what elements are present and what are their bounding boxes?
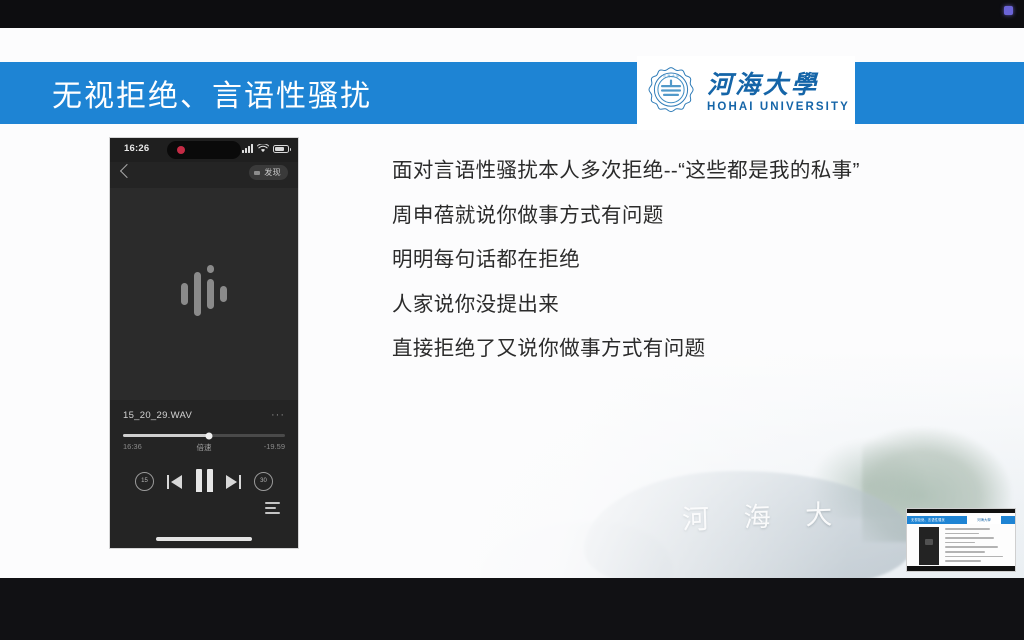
presentation-screen: 河 海 大 无视拒绝、言语性骚扰: [0, 0, 1024, 640]
stone-engraved-text: 河 海 大: [681, 492, 845, 537]
status-bar-time: 16:26: [124, 143, 149, 154]
phone-footer: [110, 492, 298, 548]
progress-fill: [123, 434, 209, 437]
elapsed-time: 16:36: [123, 442, 142, 451]
progress-knob[interactable]: [205, 432, 212, 439]
dynamic-island: [167, 141, 241, 159]
rewind-15-button[interactable]: 15: [135, 472, 154, 491]
thumbnail-text-lines: [945, 528, 1011, 565]
recording-dot-icon: [177, 146, 185, 154]
playback-speed-label[interactable]: 倍速: [197, 442, 212, 453]
body-line: 人家说你没提出来: [392, 295, 992, 316]
body-line: 周申蓓就说你做事方式有问题: [392, 206, 992, 227]
playlist-icon[interactable]: [265, 502, 280, 517]
slide-canvas: 河 海 大 无视拒绝、言语性骚扰: [0, 28, 1024, 578]
forward-30-button[interactable]: 30: [254, 472, 273, 491]
phone-nav-row: 发现: [110, 162, 298, 188]
slide-thumbnail-preview[interactable]: 无视拒绝、言语性骚扰 河海大學: [906, 508, 1016, 572]
back-chevron-icon[interactable]: [120, 164, 134, 178]
phone-artwork-area: [110, 188, 298, 400]
thumbnail-body: [907, 524, 1015, 568]
slide-body-text: 面对言语性骚扰本人多次拒绝--“这些都是我的私事” 周申蓓就说你做事方式有问题 …: [392, 161, 992, 360]
track-file-name: 15_20_29.WAV: [123, 410, 285, 421]
thumbnail-title: 无视拒绝、言语性骚扰: [911, 517, 945, 522]
slide-header-band: 无视拒绝、言语性骚扰: [0, 62, 1024, 124]
cellular-signal-icon: [242, 144, 253, 153]
phone-screenshot-image: 16:26 发现: [110, 138, 298, 548]
svg-text:河 海 大 學: 河 海 大 學: [663, 73, 680, 78]
body-line: 明明每句话都在拒绝: [392, 250, 992, 271]
stone-monument-shape: [584, 471, 914, 578]
phone-playback-controls: 15 30: [123, 469, 285, 494]
playback-time-labels: 16:36 倍速 -19.59: [123, 442, 285, 453]
status-bar-icons: [242, 144, 289, 153]
thumbnail-phone-image: [919, 527, 939, 565]
university-logo: 河 海 大 學 河海大學 HOHAI UNIVERSITY: [637, 56, 855, 130]
window-bottom-bar: [0, 578, 1024, 640]
wifi-icon: [257, 144, 269, 153]
skip-next-icon[interactable]: [226, 475, 241, 489]
thumbnail-header-band: 无视拒绝、言语性骚扰 河海大學: [907, 516, 1015, 524]
phone-status-bar: 16:26: [110, 138, 298, 162]
playback-progress-slider[interactable]: [123, 434, 285, 437]
hohai-seal-icon: 河 海 大 學: [643, 65, 699, 121]
window-top-bar: [0, 0, 1024, 28]
remaining-time: -19.59: [264, 442, 285, 451]
home-indicator: [156, 537, 252, 541]
phone-track-meta: 15_20_29.WAV ··· 16:36 倍速 -19.59 15: [110, 400, 298, 494]
body-line: 直接拒绝了又说你做事方式有问题: [392, 339, 992, 360]
recording-indicator-icon: [1004, 6, 1013, 15]
pause-button[interactable]: [196, 469, 213, 494]
logo-name-cn: 河海大學: [707, 72, 850, 97]
battery-icon: [273, 145, 289, 153]
slide-title: 无视拒绝、言语性骚扰: [52, 71, 372, 115]
more-options-icon[interactable]: ···: [271, 410, 285, 420]
skip-previous-icon[interactable]: [167, 475, 182, 489]
logo-name-en: HOHAI UNIVERSITY: [707, 102, 850, 114]
audio-waveform-icon: [181, 263, 227, 325]
body-line: 面对言语性骚扰本人多次拒绝--“这些都是我的私事”: [392, 161, 992, 182]
discover-pill-button[interactable]: 发现: [249, 165, 288, 180]
